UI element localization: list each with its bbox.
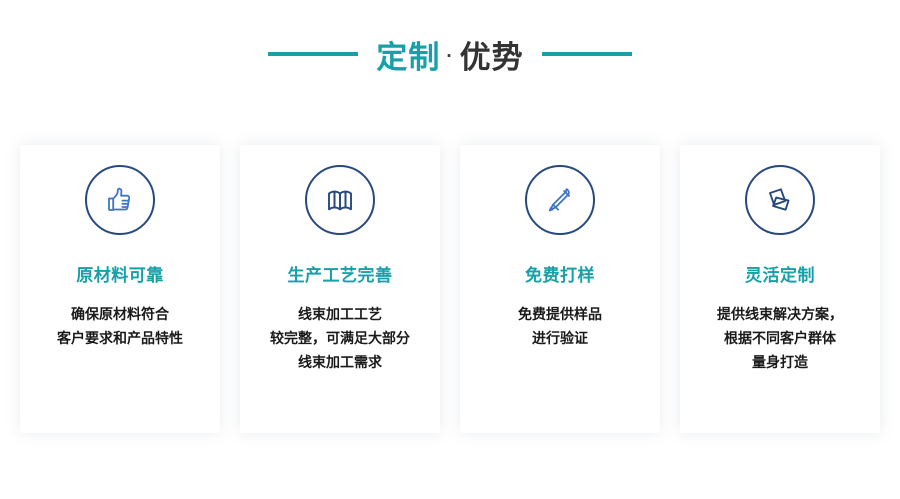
icon-circle (745, 165, 815, 235)
feature-card-sample[interactable]: 免费打样 免费提供样品 进行验证 (460, 145, 660, 433)
icon-circle (525, 165, 595, 235)
card-description-line: 量身打造 (717, 350, 843, 374)
card-description-line: 提供线束解决方案， (717, 302, 843, 326)
heading-rule-left (268, 52, 358, 56)
card-title: 灵活定制 (745, 261, 815, 286)
page-title: 定制 · 优势 (376, 32, 523, 77)
card-description-line: 较完整，可满足大部分 (270, 326, 410, 350)
icon-circle (85, 165, 155, 235)
icon-circle (305, 165, 375, 235)
feature-card-list: 原材料可靠 确保原材料符合 客户要求和产品特性 生产工艺完善 (20, 145, 880, 433)
card-description: 线束加工工艺 较完整，可满足大部分 线束加工需求 (262, 302, 418, 374)
card-description-line: 免费提供样品 (518, 302, 602, 326)
section-heading: 定制 · 优势 (0, 28, 900, 80)
stacked-cards-icon (763, 183, 797, 217)
card-title: 免费打样 (525, 261, 595, 286)
card-description-line: 进行验证 (518, 326, 602, 350)
card-description: 免费提供样品 进行验证 (510, 302, 610, 350)
thumbs-up-icon (103, 183, 137, 217)
card-description-line: 根据不同客户群体 (717, 326, 843, 350)
heading-primary-text: 定制 (376, 32, 440, 77)
card-description-line: 确保原材料符合 (57, 302, 183, 326)
card-description: 提供线束解决方案， 根据不同客户群体 量身打造 (709, 302, 851, 374)
card-description-line: 客户要求和产品特性 (57, 326, 183, 350)
feature-card-custom[interactable]: 灵活定制 提供线束解决方案， 根据不同客户群体 量身打造 (680, 145, 880, 433)
advantages-section: 定制 · 优势 原材料可靠 确保原材料符合 客户要求和产品特性 (0, 0, 900, 499)
feature-card-material[interactable]: 原材料可靠 确保原材料符合 客户要求和产品特性 (20, 145, 220, 433)
pencil-icon (543, 183, 577, 217)
folded-map-icon (323, 183, 357, 217)
heading-separator-dot: · (446, 46, 453, 68)
feature-card-process[interactable]: 生产工艺完善 线束加工工艺 较完整，可满足大部分 线束加工需求 (240, 145, 440, 433)
card-description: 确保原材料符合 客户要求和产品特性 (49, 302, 191, 350)
card-title: 原材料可靠 (76, 261, 164, 286)
card-description-line: 线束加工工艺 (270, 302, 410, 326)
heading-rule-right (542, 52, 632, 56)
card-title: 生产工艺完善 (288, 261, 393, 286)
card-description-line: 线束加工需求 (270, 350, 410, 374)
heading-secondary-text: 优势 (460, 32, 524, 77)
